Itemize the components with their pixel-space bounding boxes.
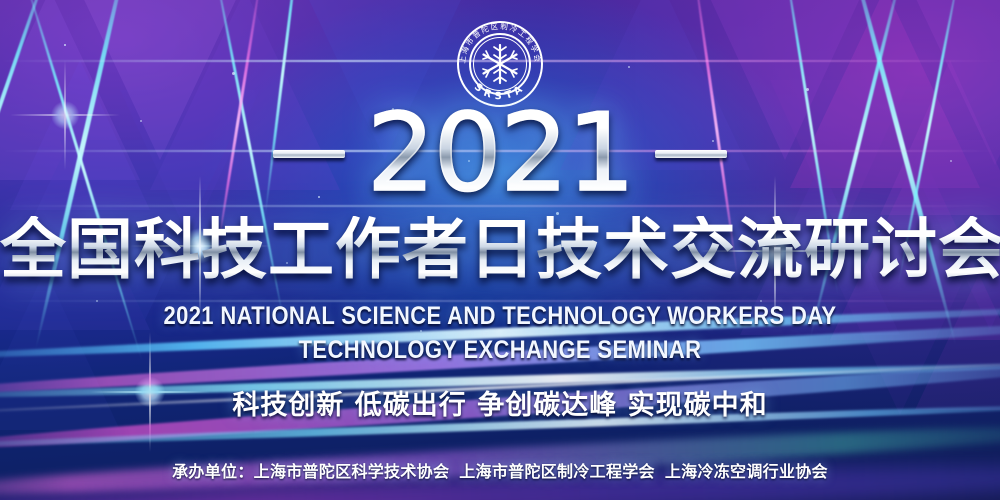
organisers-label: 承办单位： xyxy=(172,462,254,481)
year-row: 2021 xyxy=(0,103,1000,205)
year-dash-left xyxy=(273,150,345,158)
main-title: 全国科技工作者日技术交流研讨会 xyxy=(0,216,1000,283)
organiser-2: 上海市普陀区制冷工程学会 xyxy=(459,462,655,481)
year-dash-right xyxy=(655,150,727,158)
english-subtitle-line-1: 2021 NATIONAL SCIENCE AND TECHNOLOGY WOR… xyxy=(164,302,837,330)
organiser-1: 上海市普陀区科学技术协会 xyxy=(254,462,450,481)
event-banner: 上海市普陀区制冷工程学会 SRSTA 2021 全国科技工作者日技术交流研讨会 … xyxy=(0,0,1000,500)
slogan-text: 科技创新 低碳出行 争创碳达峰 实现碳中和 xyxy=(0,383,1000,422)
organisers-line: 承办单位：上海市普陀区科学技术协会上海市普陀区制冷工程学会上海冷冻空调行业协会 xyxy=(0,458,1000,482)
year-text: 2021 xyxy=(363,100,638,208)
english-subtitle-line-2: TECHNOLOGY EXCHANGE SEMINAR xyxy=(60,334,940,368)
organiser-3: 上海冷冻空调行业协会 xyxy=(665,462,828,481)
english-subtitle: 2021 NATIONAL SCIENCE AND TECHNOLOGY WOR… xyxy=(60,300,940,368)
